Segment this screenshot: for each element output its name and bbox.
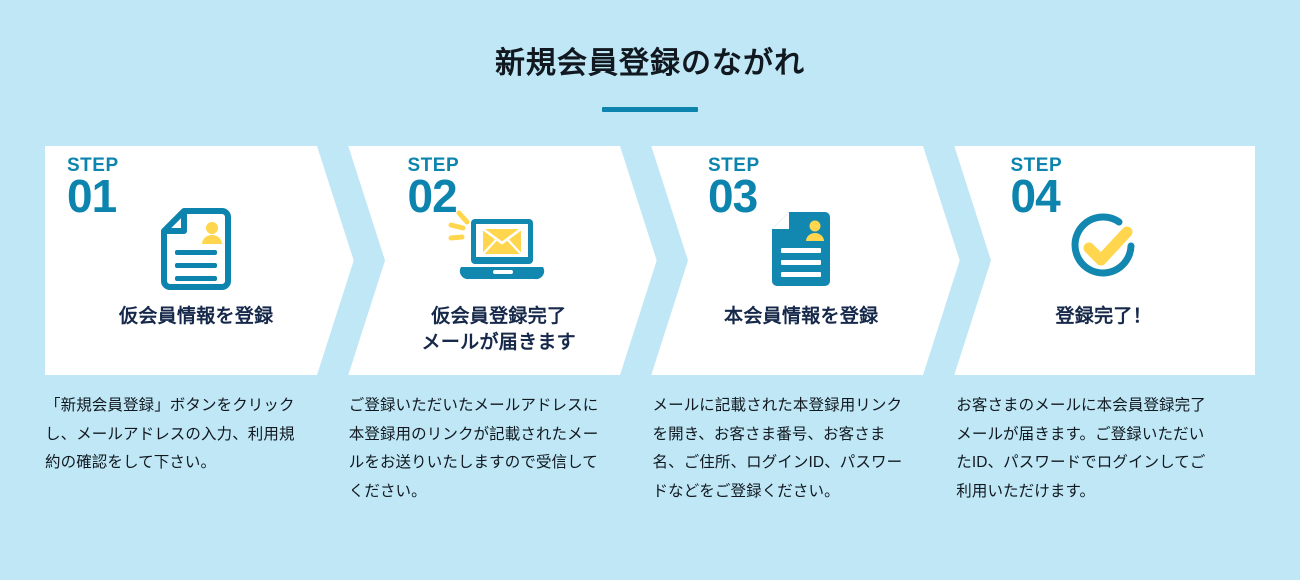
step-number: 01 [67, 173, 119, 219]
step-card-02[interactable]: STEP 02 [348, 146, 651, 375]
step-description-03: メールに記載された本登録用リンクを開き、お客さま番号、お客さま名、ご住所、ログイ… [653, 392, 957, 507]
page-title: 新規会員登録のながれ [0, 46, 1300, 82]
step-label-02: 仮会員登録完了 メールが届きます [422, 304, 576, 355]
title-underline-rule [602, 107, 698, 112]
step-card-04[interactable]: STEP 04 登録完了！ [953, 146, 1256, 375]
step-number: 03 [708, 173, 760, 219]
step-label-04: 登録完了！ [1055, 304, 1152, 330]
step-number: 02 [408, 173, 460, 219]
steps-band: STEP 01 仮会員情報を登録 STE [45, 146, 1255, 375]
step-number-block-02: STEP 02 [408, 156, 460, 219]
document-person-filled-icon [769, 210, 833, 288]
step-number-block-04: STEP 04 [1011, 156, 1063, 219]
page-header: 新規会員登録のながれ [0, 0, 1300, 112]
step-number: 04 [1011, 173, 1063, 219]
descriptions-row: 「新規会員登録」ボタンをクリックし、メールアドレスの入力、利用規約の確認をして下… [45, 392, 1260, 507]
step-label-02-line1: 仮会員登録完了 [422, 304, 576, 330]
document-person-outline-icon [160, 210, 232, 288]
laptop-mail-icon [445, 210, 553, 288]
step-description-04: お客さまのメールに本会員登録完了メールが届きます。ご登録いただいたID、パスワー… [956, 392, 1260, 507]
step-number-block-03: STEP 03 [708, 156, 760, 219]
step-number-block-01: STEP 01 [67, 156, 119, 219]
step-label-02-line2: メールが届きます [422, 330, 576, 356]
check-circle-icon [1065, 210, 1143, 288]
step-description-01: 「新規会員登録」ボタンをクリックし、メールアドレスの入力、利用規約の確認をして下… [45, 392, 349, 507]
step-card-01[interactable]: STEP 01 仮会員情報を登録 [45, 146, 348, 375]
step-description-02: ご登録いただいたメールアドレスに本登録用のリンクが記載されたメールをお送りいたし… [349, 392, 653, 507]
step-card-03[interactable]: STEP 03 本会員情報を登録 [650, 146, 953, 375]
step-label-01: 仮会員情報を登録 [119, 304, 273, 330]
step-label-03: 本会員情報を登録 [724, 304, 878, 330]
